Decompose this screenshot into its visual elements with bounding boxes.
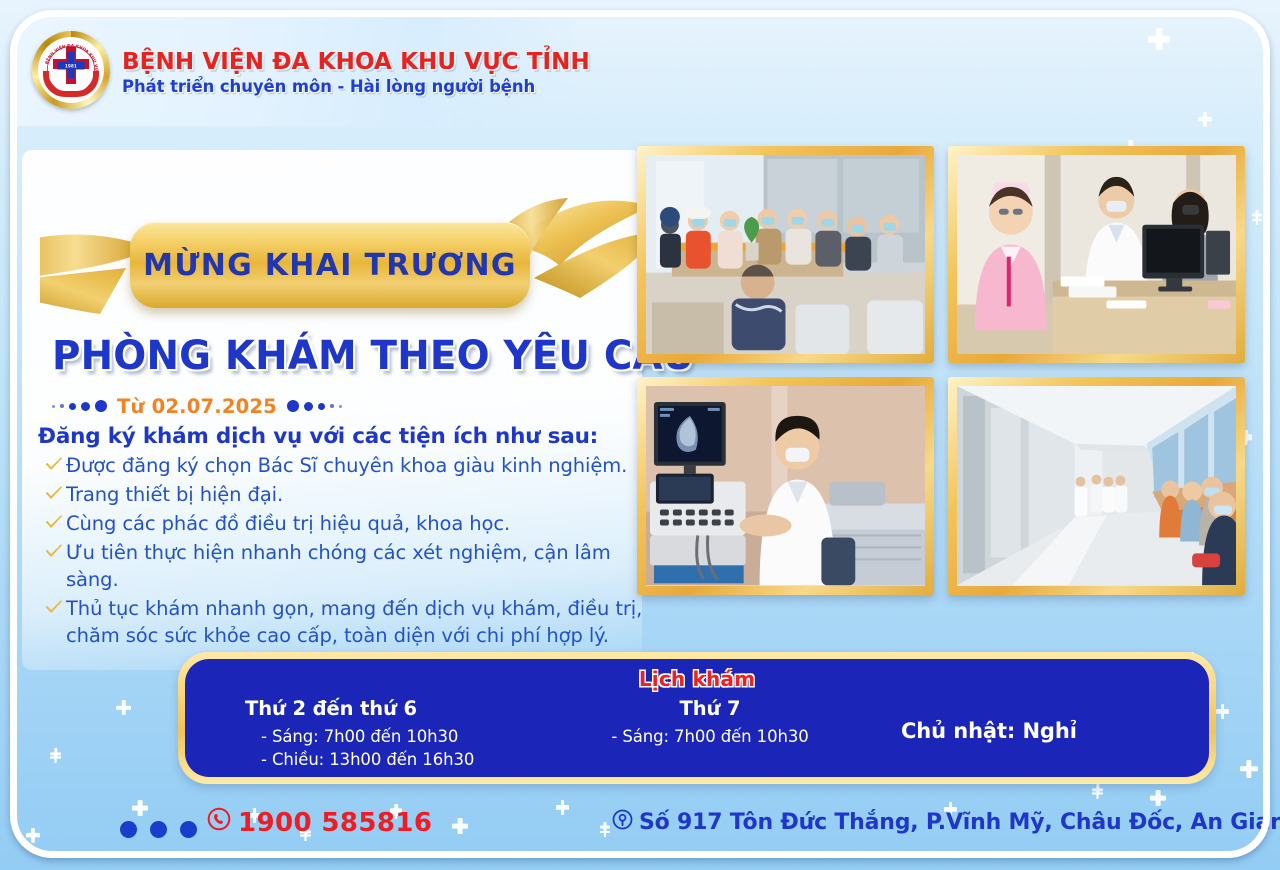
list-item: Ưu tiên thực hiện nhanh chóng các xét ng… [44, 539, 644, 593]
plus-icon [1216, 704, 1229, 717]
list-item-label: Được đăng ký chọn Bác Sĩ chuyên khoa già… [66, 452, 627, 479]
schedule-column-weekdays: Thứ 2 đến thứ 6 - Sáng: 7h00 đến 10h30 -… [185, 697, 545, 771]
check-icon [44, 598, 64, 622]
plus-icon [116, 700, 131, 715]
page-title: PHÒNG KHÁM THEO YÊU CẦU [52, 333, 615, 379]
frame-dot-decoration [120, 821, 197, 838]
list-item-label: Cùng các phác đồ điều trị hiệu quả, khoa… [66, 510, 510, 537]
list-item: Được đăng ký chọn Bác Sĩ chuyên khoa già… [44, 452, 644, 479]
schedule-box: Lịch khám Thứ 2 đến thứ 6 - Sáng: 7h00 đ… [178, 652, 1216, 784]
photo-reception-desk [948, 146, 1245, 363]
plus-icon [1198, 112, 1212, 126]
benefits-list: Được đăng ký chọn Bác Sĩ chuyên khoa già… [44, 452, 644, 651]
check-icon [44, 455, 64, 479]
plus-icon [1148, 28, 1170, 50]
address-contact: Số 917 Tôn Đức Thắng, P.Vĩnh Mỹ, Châu Đố… [612, 809, 1280, 836]
ribbon-label: MỪNG KHAI TRƯƠNG [143, 248, 517, 283]
schedule-column-saturday: Thứ 7 - Sáng: 7h00 đến 10h30 [545, 697, 875, 771]
list-item: Thủ tục khám nhanh gọn, mang đến dịch vụ… [44, 595, 644, 649]
schedule-line: - Sáng: 7h00 đến 10h30 [245, 725, 545, 748]
schedule-line: - Chiều: 13h00 đến 16h30 [245, 748, 545, 771]
address-text: Số 917 Tôn Đức Thắng, P.Vĩnh Mỹ, Châu Đố… [639, 810, 1280, 835]
ribbon-banner: MỪNG KHAI TRƯƠNG [40, 190, 660, 340]
phone-contact[interactable]: 1900 585816 [207, 807, 432, 838]
hospital-emblem-icon: BỆNH VIỆN ĐA KHOA KHU VỰC TỈNH AN GIANG … [32, 31, 110, 109]
plus-icon [1092, 784, 1103, 795]
list-item-label: Ưu tiên thực hiện nhanh chóng các xét ng… [66, 539, 644, 593]
photo-gallery [637, 146, 1245, 590]
schedule-column-title: Thứ 7 [545, 697, 875, 720]
schedule-column-title: Thứ 2 đến thứ 6 [245, 697, 545, 720]
dot-decoration-right [287, 400, 342, 412]
phone-number: 1900 585816 [238, 808, 432, 838]
check-icon [44, 542, 64, 566]
opening-date: Từ 02.07.2025 [117, 395, 277, 418]
photo-ultrasound-room [637, 377, 934, 594]
schedule-column-sunday: Chủ nhật: Nghỉ [875, 697, 1209, 771]
emblem-year: 1981 [65, 64, 77, 69]
plus-icon [1150, 790, 1166, 806]
ribbon-pill: MỪNG KHAI TRƯƠNG [130, 222, 530, 308]
map-pin-circle-icon [612, 809, 633, 836]
schedule-column-title: Chủ nhật: Nghỉ [901, 719, 1209, 743]
benefits-heading: Đăng ký khám dịch vụ với các tiện ích nh… [38, 424, 598, 449]
hospital-name: BỆNH VIỆN ĐA KHOA KHU VỰC TỈNH [122, 47, 590, 75]
dot-decoration-left [52, 400, 107, 412]
list-item: Cùng các phác đồ điều trị hiệu quả, khoa… [44, 510, 644, 537]
header: BỆNH VIỆN ĐA KHOA KHU VỰC TỈNH AN GIANG … [14, 14, 574, 126]
list-item: Trang thiết bị hiện đại. [44, 481, 644, 508]
photo-waiting-room [637, 146, 934, 363]
schedule-title: Lịch khám [185, 667, 1209, 691]
list-item-label: Trang thiết bị hiện đại. [66, 481, 283, 508]
list-item-label: Thủ tục khám nhanh gọn, mang đến dịch vụ… [66, 595, 644, 649]
check-icon [44, 513, 64, 537]
check-icon [44, 484, 64, 508]
opening-date-row: Từ 02.07.2025 [52, 392, 522, 420]
phone-circle-icon [207, 807, 231, 838]
plus-icon [1240, 760, 1258, 778]
hospital-slogan: Phát triển chuyên môn - Hài lòng người b… [122, 77, 599, 96]
photo-corridor [948, 377, 1245, 594]
plus-icon [1252, 210, 1262, 220]
plus-icon [50, 748, 61, 759]
schedule-line: - Sáng: 7h00 đến 10h30 [545, 725, 875, 748]
